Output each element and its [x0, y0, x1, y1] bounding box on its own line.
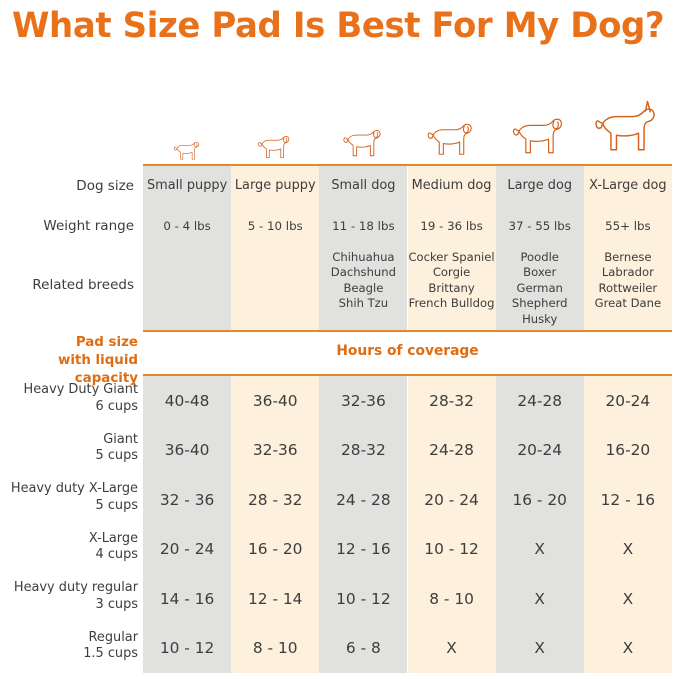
coverage-cell: 10 - 12 — [143, 639, 231, 657]
weight-range-cell-1: 0 - 4 lbs — [143, 218, 231, 234]
coverage-cell: 16 - 20 — [231, 540, 319, 558]
large-dog-icon — [496, 78, 584, 166]
weight-range-cell-3: 11 - 18 lbs — [319, 218, 407, 234]
related-breeds-cell-1 — [143, 250, 231, 327]
coverage-cell: 16 - 20 — [496, 491, 584, 509]
pad-size-row-label: X-Large4 cups — [0, 531, 138, 564]
pad-name: X-Large — [89, 531, 138, 546]
breed-name: Great Dane — [584, 296, 672, 311]
pad-size-line1: Pad size — [76, 335, 138, 350]
coverage-cell: 8 - 10 — [231, 639, 319, 657]
small-puppy-dog-icon — [143, 78, 231, 166]
coverage-cell: 32-36 — [319, 392, 407, 410]
pad-size-row-label: Heavy duty X-Large5 cups — [0, 481, 138, 514]
coverage-cell: 20-24 — [584, 392, 672, 410]
breed-name: Bernese — [584, 250, 672, 265]
related-breeds-cell-2 — [231, 250, 319, 327]
breed-name: Cocker Spaniel — [407, 250, 495, 265]
coverage-cell: 20 - 24 — [407, 491, 495, 509]
breed-name: Labrador — [584, 265, 672, 280]
weight-range-cells: 0 - 4 lbs5 - 10 lbs11 - 18 lbs19 - 36 lb… — [143, 218, 672, 234]
row-cells: 10 - 128 - 106 - 8XXX — [143, 624, 672, 674]
coverage-cell: 28-32 — [407, 392, 495, 410]
coverage-cell: 28 - 32 — [231, 491, 319, 509]
row-cells: 32 - 3628 - 3224 - 2820 - 2416 - 2012 - … — [143, 475, 672, 525]
coverage-cell: 40-48 — [143, 392, 231, 410]
pad-name: Heavy duty X-Large — [11, 481, 138, 496]
breed-name: Chihuahua — [319, 250, 407, 265]
row-cells: 14 - 1612 - 1410 - 128 - 10XX — [143, 574, 672, 624]
coverage-cell-unavailable: X — [407, 639, 495, 657]
dog-silhouette-strip — [143, 78, 672, 166]
row-cells: 36-4032-3628-3224-2820-2416-20 — [143, 426, 672, 476]
coverage-cell: 24 - 28 — [319, 491, 407, 509]
coverage-cell: 8 - 10 — [407, 590, 495, 608]
table-row: Heavy Duty Giant6 cups40-4836-4032-3628-… — [0, 376, 679, 426]
medium-dog-icon — [408, 78, 496, 166]
dog-size-cell-6: X-Large dog — [584, 178, 672, 194]
weight-range-cell-6: 55+ lbs — [584, 218, 672, 234]
coverage-cell: 20-24 — [496, 441, 584, 459]
coverage-cell: 12 - 14 — [231, 590, 319, 608]
dog-size-cell-1: Small puppy — [143, 178, 231, 194]
related-breeds-cell-4: Cocker SpanielCorgieBrittanyFrench Bulld… — [407, 250, 495, 327]
breed-name: Husky — [496, 312, 584, 327]
coverage-cell-unavailable: X — [496, 590, 584, 608]
x-large-dog-icon — [584, 78, 672, 166]
coverage-cell: 32-36 — [231, 441, 319, 459]
hours-of-coverage-label: Hours of coverage — [143, 343, 672, 359]
related-breeds-cell-3: ChihuahuaDachshundBeagleShih Tzu — [319, 250, 407, 327]
coverage-cell: 16-20 — [584, 441, 672, 459]
row-cells: 40-4836-4032-3628-3224-2820-24 — [143, 376, 672, 426]
coverage-cell: 36-40 — [231, 392, 319, 410]
pad-capacity: 3 cups — [0, 597, 138, 614]
breed-name: Shih Tzu — [319, 296, 407, 311]
coverage-cell: 24-28 — [407, 441, 495, 459]
table-row: Heavy duty regular3 cups14 - 1612 - 1410… — [0, 574, 679, 624]
pad-capacity: 4 cups — [0, 547, 138, 564]
coverage-cell: 10 - 12 — [319, 590, 407, 608]
section-header: Pad size with liquid capacity Hours of c… — [0, 332, 679, 374]
dog-size-cell-5: Large dog — [496, 178, 584, 194]
dog-size-cell-3: Small dog — [319, 178, 407, 194]
breed-name: Poodle — [496, 250, 584, 265]
pad-size-row-label: Heavy Duty Giant6 cups — [0, 382, 138, 415]
coverage-cell: 12 - 16 — [584, 491, 672, 509]
breed-name: French Bulldog — [407, 296, 495, 311]
weight-range-cell-4: 19 - 36 lbs — [407, 218, 495, 234]
breed-name: German — [496, 281, 584, 296]
pad-name: Regular — [89, 630, 138, 645]
coverage-cell: 32 - 36 — [143, 491, 231, 509]
table-row: Heavy duty X-Large5 cups32 - 3628 - 3224… — [0, 475, 679, 525]
breed-name: Beagle — [319, 281, 407, 296]
dog-size-cell-4: Medium dog — [407, 178, 495, 194]
data-table: Heavy Duty Giant6 cups40-4836-4032-3628-… — [0, 376, 679, 673]
coverage-cell-unavailable: X — [584, 540, 672, 558]
pad-capacity: 5 cups — [0, 498, 138, 515]
coverage-cell: 6 - 8 — [319, 639, 407, 657]
coverage-cell: 20 - 24 — [143, 540, 231, 558]
coverage-cell-unavailable: X — [584, 590, 672, 608]
coverage-cell: 36-40 — [143, 441, 231, 459]
dog-size-cell-2: Large puppy — [231, 178, 319, 194]
related-breeds-label: Related breeds — [0, 277, 134, 293]
row-cells: 20 - 2416 - 2012 - 1610 - 12XX — [143, 525, 672, 575]
related-breeds-cells: ChihuahuaDachshundBeagleShih TzuCocker S… — [143, 250, 672, 327]
pad-size-row-label: Giant5 cups — [0, 432, 138, 465]
coverage-cell-unavailable: X — [496, 639, 584, 657]
weight-range-cell-2: 5 - 10 lbs — [231, 218, 319, 234]
dog-size-cells: Small puppyLarge puppySmall dogMedium do… — [143, 178, 672, 194]
weight-range-label: Weight range — [0, 218, 134, 234]
table-row: Giant5 cups36-4032-3628-3224-2820-2416-2… — [0, 426, 679, 476]
coverage-cell: 14 - 16 — [143, 590, 231, 608]
pad-name: Heavy duty regular — [14, 580, 138, 595]
breed-name: Shepherd — [496, 296, 584, 311]
weight-range-cell-5: 37 - 55 lbs — [496, 218, 584, 234]
pad-size-row-label: Heavy duty regular3 cups — [0, 580, 138, 613]
pad-name: Heavy Duty Giant — [24, 382, 138, 397]
page-title: What Size Pad Is Best For My Dog? — [12, 4, 652, 48]
coverage-cell: 12 - 16 — [319, 540, 407, 558]
pad-size-row-label: Regular1.5 cups — [0, 630, 138, 663]
breed-name: Brittany — [407, 281, 495, 296]
coverage-cell: 10 - 12 — [407, 540, 495, 558]
breed-name: Dachshund — [319, 265, 407, 280]
related-breeds-cell-6: BerneseLabradorRottweilerGreat Dane — [584, 250, 672, 327]
breed-name: Boxer — [496, 265, 584, 280]
small-dog-icon — [319, 78, 407, 166]
coverage-cell-unavailable: X — [584, 639, 672, 657]
dog-size-label: Dog size — [0, 178, 134, 194]
pad-name: Giant — [103, 432, 138, 447]
breed-name: Corgie — [407, 265, 495, 280]
coverage-cell-unavailable: X — [496, 540, 584, 558]
coverage-cell: 24-28 — [496, 392, 584, 410]
breed-name: Rottweiler — [584, 281, 672, 296]
large-puppy-dog-icon — [231, 78, 319, 166]
table-row: X-Large4 cups20 - 2416 - 2012 - 1610 - 1… — [0, 525, 679, 575]
header-info-block: Dog size Small puppyLarge puppySmall dog… — [0, 166, 679, 330]
table-row: Regular1.5 cups10 - 128 - 106 - 8XXX — [0, 624, 679, 674]
coverage-cell: 28-32 — [319, 441, 407, 459]
pad-capacity: 6 cups — [0, 399, 138, 416]
related-breeds-cell-5: PoodleBoxerGermanShepherdHusky — [496, 250, 584, 327]
pad-capacity: 5 cups — [0, 448, 138, 465]
pad-capacity: 1.5 cups — [0, 646, 138, 663]
